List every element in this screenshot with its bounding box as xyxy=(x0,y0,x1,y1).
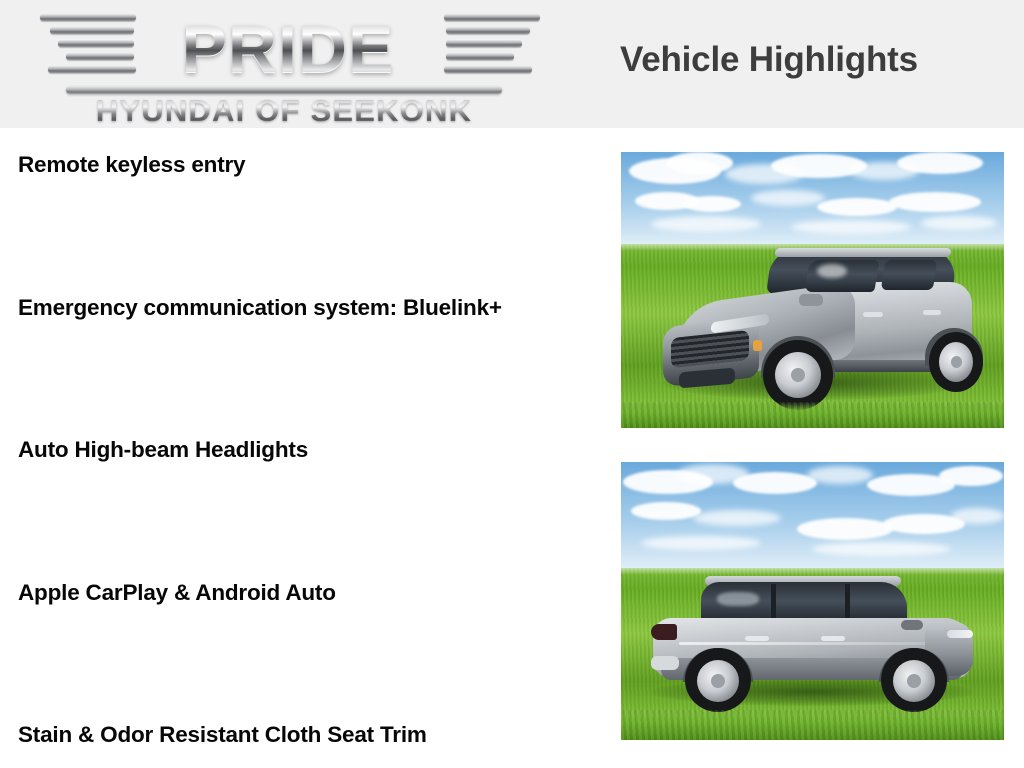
vehicle-headlight xyxy=(947,630,973,638)
vehicle-door-handle xyxy=(821,636,845,641)
cloud-shape xyxy=(939,466,1003,486)
page-header: PRIDE HYUNDAI OF SEEKONK Vehicle Highlig… xyxy=(0,0,1024,128)
cloud-shape xyxy=(651,216,761,232)
cloud-shape xyxy=(631,502,701,520)
windshield-glare xyxy=(817,264,847,278)
cloud-shape xyxy=(751,190,825,206)
vehicle-door-handle xyxy=(745,636,769,641)
cloud-shape xyxy=(889,192,981,212)
cloud-shape xyxy=(693,510,781,526)
vehicle-rear-bumper xyxy=(651,656,679,670)
vehicle-door-handle xyxy=(923,310,941,315)
vehicle-front-hub xyxy=(907,674,921,688)
vehicle-illustration xyxy=(639,574,987,712)
cloud-shape xyxy=(897,152,983,174)
cloud-shape xyxy=(817,198,897,216)
cloud-shape xyxy=(791,220,911,234)
window-glare xyxy=(717,592,759,606)
cloud-shape xyxy=(641,536,761,550)
vehicle-character-line xyxy=(679,642,941,645)
vehicle-photo-side-profile[interactable] xyxy=(621,462,1004,740)
vehicle-side-mirror xyxy=(901,620,923,630)
vehicle-side-marker-light xyxy=(753,340,762,351)
vehicle-highlights-list: Remote keyless entry Emergency communica… xyxy=(18,150,588,750)
vehicle-door-handle xyxy=(863,312,883,317)
speed-lines-left-icon xyxy=(24,14,136,84)
list-item: Auto High-beam Headlights xyxy=(18,435,558,465)
logo-subtitle-text: HYUNDAI OF SEEKONK xyxy=(24,94,544,128)
vehicle-side-mirror xyxy=(799,294,823,306)
dealer-logo[interactable]: PRIDE HYUNDAI OF SEEKONK xyxy=(24,6,544,124)
vehicle-rear-hub xyxy=(951,356,962,368)
cloud-shape xyxy=(811,542,951,556)
cloud-shape xyxy=(797,518,893,540)
page-title: Vehicle Highlights xyxy=(620,38,918,82)
vehicle-highlights-page: PRIDE HYUNDAI OF SEEKONK Vehicle Highlig… xyxy=(0,0,1024,768)
logo-wordmark-row: PRIDE xyxy=(24,8,544,92)
foreground-grass xyxy=(621,710,1004,740)
foreground-grass xyxy=(621,402,1004,428)
list-item: Stain & Odor Resistant Cloth Seat Trim xyxy=(18,720,558,750)
vehicle-photo-front-three-quarter[interactable] xyxy=(621,152,1004,428)
vehicle-rear-hub xyxy=(711,674,725,688)
logo-wordmark-text: PRIDE xyxy=(128,12,448,86)
cloud-shape xyxy=(683,196,741,212)
cloud-shape xyxy=(951,508,1004,524)
cloud-shape xyxy=(733,472,817,494)
vehicle-taillight xyxy=(651,624,677,640)
cloud-shape xyxy=(921,216,997,230)
vehicle-front-hub xyxy=(791,368,805,382)
cloud-shape xyxy=(667,152,733,174)
list-item: Emergency communication system: Bluelink… xyxy=(18,293,558,323)
speed-lines-right-icon xyxy=(444,14,556,84)
list-item: Apple CarPlay & Android Auto xyxy=(18,578,558,608)
cloud-shape xyxy=(807,466,873,484)
vehicle-roofline xyxy=(774,248,951,257)
vehicle-rear-window xyxy=(881,260,937,290)
list-item: Remote keyless entry xyxy=(18,150,558,180)
vehicle-illustration xyxy=(657,248,979,408)
